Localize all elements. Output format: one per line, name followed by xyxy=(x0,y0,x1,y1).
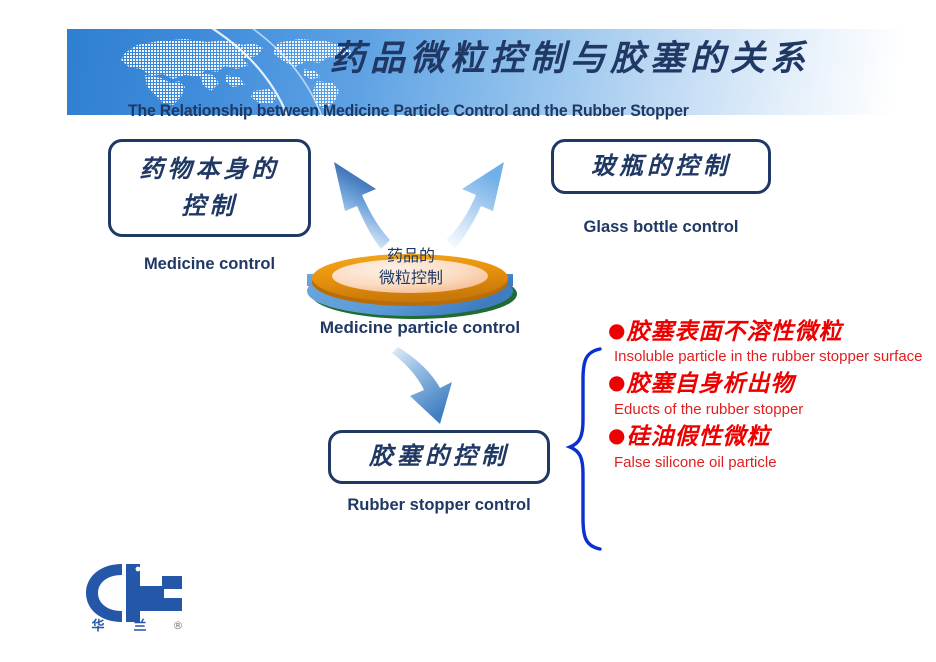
page-title-en: The Relationship between Medicine Partic… xyxy=(128,103,886,120)
bullet-dot-icon: ● xyxy=(608,318,626,342)
box-medicine-text: 药物本身的 控制 xyxy=(140,151,280,225)
box-glass-text: 玻瓶的控制 xyxy=(591,148,731,185)
box-medicine-line1: 药物本身的 xyxy=(140,151,280,188)
company-logo: 华 兰 ® xyxy=(78,556,194,634)
caption-glass-bottle-control: Glass bottle control xyxy=(551,218,771,237)
bullet-item-1: ●胶塞表面不溶性微粒 Insoluble particle in the rub… xyxy=(608,318,930,366)
bullet-item-3: ●硅油假性微粒 False silicone oil particle xyxy=(608,423,930,471)
box-medicine-line2: 控制 xyxy=(140,188,280,225)
bullet-dot-icon: ● xyxy=(608,423,626,447)
bullet-list: ●胶塞表面不溶性微粒 Insoluble particle in the rub… xyxy=(608,318,930,473)
logo-trademark-icon: ® xyxy=(173,619,184,632)
logo-name-cn-1: 华 xyxy=(91,618,104,634)
bullet-3-cn-text: 硅油假性微粒 xyxy=(626,424,770,450)
bullet-item-2: ●胶塞自身析出物 Educts of the rubber stopper xyxy=(608,370,930,418)
logo-name-cn-2: 兰 xyxy=(133,618,146,634)
bullet-1-cn-text: 胶塞表面不溶性微粒 xyxy=(626,319,842,345)
medicine-particle-disc xyxy=(300,236,522,322)
curved-arrow-down-icon xyxy=(392,347,452,424)
bullet-2-en: Educts of the rubber stopper xyxy=(614,401,930,419)
bullet-dot-icon: ● xyxy=(608,370,626,394)
box-medicine-control[interactable]: 药物本身的 控制 xyxy=(108,139,311,237)
caption-medicine-control: Medicine control xyxy=(108,255,311,274)
page-title-cn: 药品微粒控制与胶塞的关系 xyxy=(330,42,890,77)
curly-brace-right-icon xyxy=(570,349,600,549)
box-stopper-text: 胶塞的控制 xyxy=(369,438,509,475)
bullet-3-cn: ●硅油假性微粒 xyxy=(608,423,930,452)
box-glass-bottle-control[interactable]: 玻瓶的控制 xyxy=(551,139,771,194)
bullet-2-cn: ●胶塞自身析出物 xyxy=(608,370,930,399)
box-rubber-stopper-control[interactable]: 胶塞的控制 xyxy=(328,430,550,484)
bullet-3-en: False silicone oil particle xyxy=(614,454,930,472)
disc-caption: Medicine particle control xyxy=(290,318,550,338)
bullet-2-cn-text: 胶塞自身析出物 xyxy=(626,371,794,397)
slide-canvas: 药品微粒控制与胶塞的关系 The Relationship between Me… xyxy=(0,0,936,662)
caption-rubber-stopper-control: Rubber stopper control xyxy=(316,496,562,515)
bullet-1-en: Insoluble particle in the rubber stopper… xyxy=(614,348,930,366)
bullet-1-cn: ●胶塞表面不溶性微粒 xyxy=(608,318,930,347)
